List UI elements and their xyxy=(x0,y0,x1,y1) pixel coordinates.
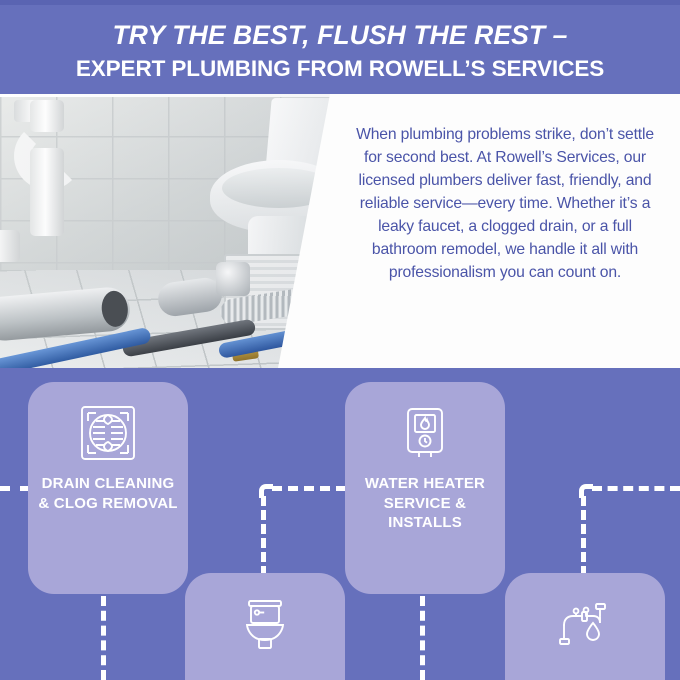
headline-secondary: EXPERT PLUMBING FROM ROWELL’S SERVICES xyxy=(76,55,604,82)
service-card-drain-cleaning[interactable]: DRAIN CLEANING & CLOG REMOVAL xyxy=(28,382,188,594)
header-banner: TRY THE BEST, FLUSH THE REST – EXPERT PL… xyxy=(0,5,680,94)
photo-p-trap-pipe xyxy=(14,100,68,290)
service-card-pipe-leak[interactable] xyxy=(505,573,665,680)
connector-mid-horizontal xyxy=(272,486,346,491)
pipe-valve-drop-icon xyxy=(556,595,614,653)
connector-right-horizontal xyxy=(592,486,680,491)
infographic-page: TRY THE BEST, FLUSH THE REST – EXPERT PL… xyxy=(0,0,680,680)
service-card-label: WATER HEATER SERVICE & INSTALLS xyxy=(345,474,505,533)
connector-card1-down xyxy=(101,596,106,680)
headline-primary: TRY THE BEST, FLUSH THE REST – xyxy=(112,21,567,51)
drain-grate-icon xyxy=(79,404,137,462)
connector-card2-down xyxy=(420,596,425,680)
intro-paragraph: When plumbing problems strike, don’t set… xyxy=(350,124,660,284)
service-card-label: DRAIN CLEANING & CLOG REMOVAL xyxy=(28,474,188,513)
services-section: DRAIN CLEANING & CLOG REMOVAL WATER HEAT… xyxy=(0,368,680,680)
hero-section: When plumbing problems strike, don’t set… xyxy=(0,94,680,368)
connector-right-vertical xyxy=(581,496,586,576)
service-card-toilet-repair[interactable] xyxy=(185,573,345,680)
toilet-icon xyxy=(236,595,294,653)
water-heater-icon xyxy=(396,404,454,462)
connector-left-to-card1 xyxy=(0,486,30,491)
service-card-water-heater[interactable]: WATER HEATER SERVICE & INSTALLS xyxy=(345,382,505,594)
intro-text-panel: When plumbing problems strike, don’t set… xyxy=(260,94,680,368)
connector-mid-vertical xyxy=(261,496,266,576)
photo-pipe-cap xyxy=(216,262,250,296)
